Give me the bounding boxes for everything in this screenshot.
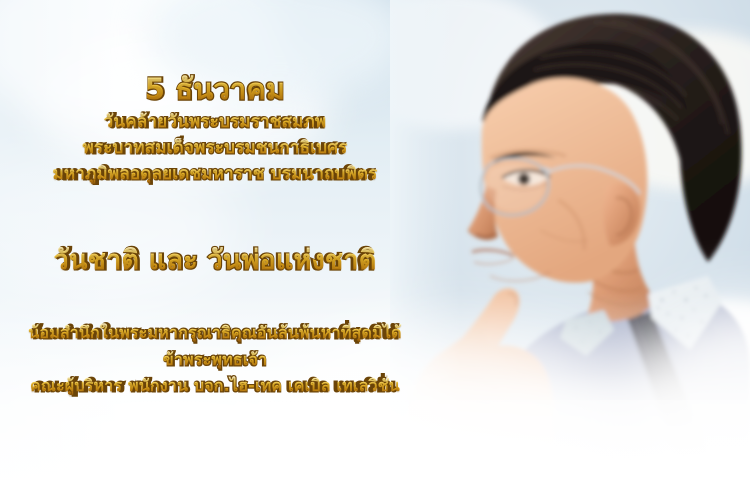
date-subline-1: วันคล้ายวันพระบรมราชสมภพ	[104, 112, 327, 132]
commemorative-card: 5 ธันวาคม วันคล้ายวันพระบรมราชสมภพ พระบา…	[0, 0, 750, 493]
date-subline-2: พระบาทสมเด็จพระบรมชนกาธิเบศร	[82, 138, 347, 158]
closing-line-1-wrap: น้อมสำนึกในพระมหากรุณาธิคุณอันล้นพ้นหาที…	[0, 323, 430, 343]
closing-line-2: ข้าพระพุทธเจ้า	[163, 350, 268, 369]
closing-line-3-wrap: คณะผู้บริหาร พนักงาน บจก.ไฮ-เทค เคเบิล เ…	[0, 376, 430, 396]
main-title-wrap: วันชาติ และ วันพ่อแห่งชาติ	[0, 245, 430, 278]
date-headline-wrap: 5 ธันวาคม	[0, 72, 430, 107]
date-subline-1-wrap: วันคล้ายวันพระบรมราชสมภพ	[0, 112, 430, 133]
date-subline-3: มหาภูมิพลอดุลยเดชมหาราช บรมนาถบพิตร	[52, 164, 377, 184]
closing-line-3: คณะผู้บริหาร พนักงาน บจก.ไฮ-เทค เคเบิล เ…	[30, 376, 400, 395]
closing-line-1: น้อมสำนึกในพระมหากรุณาธิคุณอันล้นพ้นหาที…	[28, 323, 401, 342]
date-subline-2-wrap: พระบาทสมเด็จพระบรมชนกาธิเบศร	[0, 138, 430, 159]
text-layer: 5 ธันวาคม วันคล้ายวันพระบรมราชสมภพ พระบา…	[0, 0, 430, 493]
closing-block: น้อมสำนึกในพระมหากรุณาธิคุณอันล้นพ้นหาที…	[0, 316, 430, 396]
date-headline: 5 ธันวาคม	[145, 72, 285, 106]
main-title: วันชาติ และ วันพ่อแห่งชาติ	[54, 245, 377, 276]
date-subline-3-wrap: มหาภูมิพลอดุลยเดชมหาราช บรมนาถบพิตร	[0, 164, 430, 185]
date-block: 5 ธันวาคม วันคล้ายวันพระบรมราชสมภพ พระบา…	[0, 72, 430, 185]
title-block: วันชาติ และ วันพ่อแห่งชาติ	[0, 245, 430, 278]
closing-line-2-wrap: ข้าพระพุทธเจ้า	[0, 350, 430, 370]
